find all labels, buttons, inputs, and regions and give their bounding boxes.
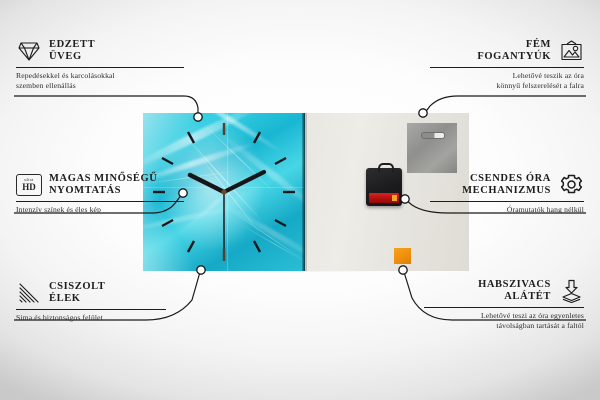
divider — [16, 67, 184, 68]
callout-desc-line1: Lehetővé teszi az óra egyenletes — [424, 311, 584, 321]
callout-header: CSISZOLT ÉLEK — [16, 280, 166, 306]
callout-title: FÉM FOGANTYÚK — [477, 39, 551, 64]
callout-title: CSENDES ÓRA MECHANIZMUS — [462, 173, 551, 198]
picture-hanger-icon — [558, 38, 584, 64]
callout-desc-line1: Óramutatók hang nélkül — [430, 205, 584, 215]
callout-tempered-glass: EDZETT ÜVEG Repedésekkel és karcolásokka… — [16, 38, 184, 91]
callout-header: HABSZIVACS ALÁTÉT — [424, 278, 584, 304]
callout-header: EDZETT ÜVEG — [16, 38, 184, 64]
callout-title: EDZETT ÜVEG — [49, 39, 95, 64]
hd-badge-large: HD — [22, 183, 36, 192]
divider — [430, 201, 584, 202]
foam-pad-press-icon — [558, 278, 584, 304]
callout-desc-line1: Lehetővé teszik az óra — [430, 71, 584, 81]
gear-icon — [558, 172, 584, 198]
callout-polished-edges: CSISZOLT ÉLEK Sima és biztonságos felüle… — [16, 280, 166, 323]
callout-title: HABSZIVACS ALÁTÉT — [478, 279, 551, 304]
callout-desc-line2: könnyű felszerelését a falra — [430, 81, 584, 91]
callout-desc-line1: Repedésekkel és karcolásokkal — [16, 71, 184, 81]
divider — [424, 307, 584, 308]
callout-header: ultra HD MAGAS MINŐSÉGŰ NYOMTATÁS — [16, 172, 184, 198]
battery — [369, 193, 399, 203]
callout-desc-line2: szemben ellenállás — [16, 81, 184, 91]
callout-header: FÉM FOGANTYÚK — [430, 38, 584, 64]
divider — [430, 67, 584, 68]
diamond-icon — [16, 38, 42, 64]
callout-title: CSISZOLT ÉLEK — [49, 281, 105, 306]
foam-pad — [394, 248, 411, 264]
metal-hanger-plate — [407, 123, 457, 173]
divider — [16, 201, 184, 202]
mechanism-hook — [378, 163, 394, 172]
wire-handles — [424, 96, 586, 114]
callout-desc-line1: Intenzív színek és éles kép — [16, 205, 184, 215]
callout-foam-pad: HABSZIVACS ALÁTÉT Lehetővé teszi az óra … — [424, 278, 584, 331]
callout-title: MAGAS MINŐSÉGŰ NYOMTATÁS — [49, 173, 157, 198]
polished-edge-icon — [16, 280, 42, 306]
ultra-hd-badge-icon: ultra HD — [16, 172, 42, 198]
callout-silent-mechanism: CSENDES ÓRA MECHANIZMUS Óramutatók hang … — [430, 172, 584, 215]
callout-header: CSENDES ÓRA MECHANIZMUS — [430, 172, 584, 198]
callout-desc-line2: távolságban tartását a faltól — [424, 321, 584, 331]
clock-mechanism — [366, 168, 402, 206]
callout-desc-line1: Sima és biztonságos felület — [16, 313, 166, 323]
divider — [16, 309, 166, 310]
callout-high-quality-print: ultra HD MAGAS MINŐSÉGŰ NYOMTATÁS Intenz… — [16, 172, 184, 215]
callout-metal-handles: FÉM FOGANTYÚK Lehetővé teszik az óra kön… — [430, 38, 584, 91]
product-infographic: EDZETT ÜVEG Repedésekkel és karcolásokka… — [0, 0, 600, 400]
